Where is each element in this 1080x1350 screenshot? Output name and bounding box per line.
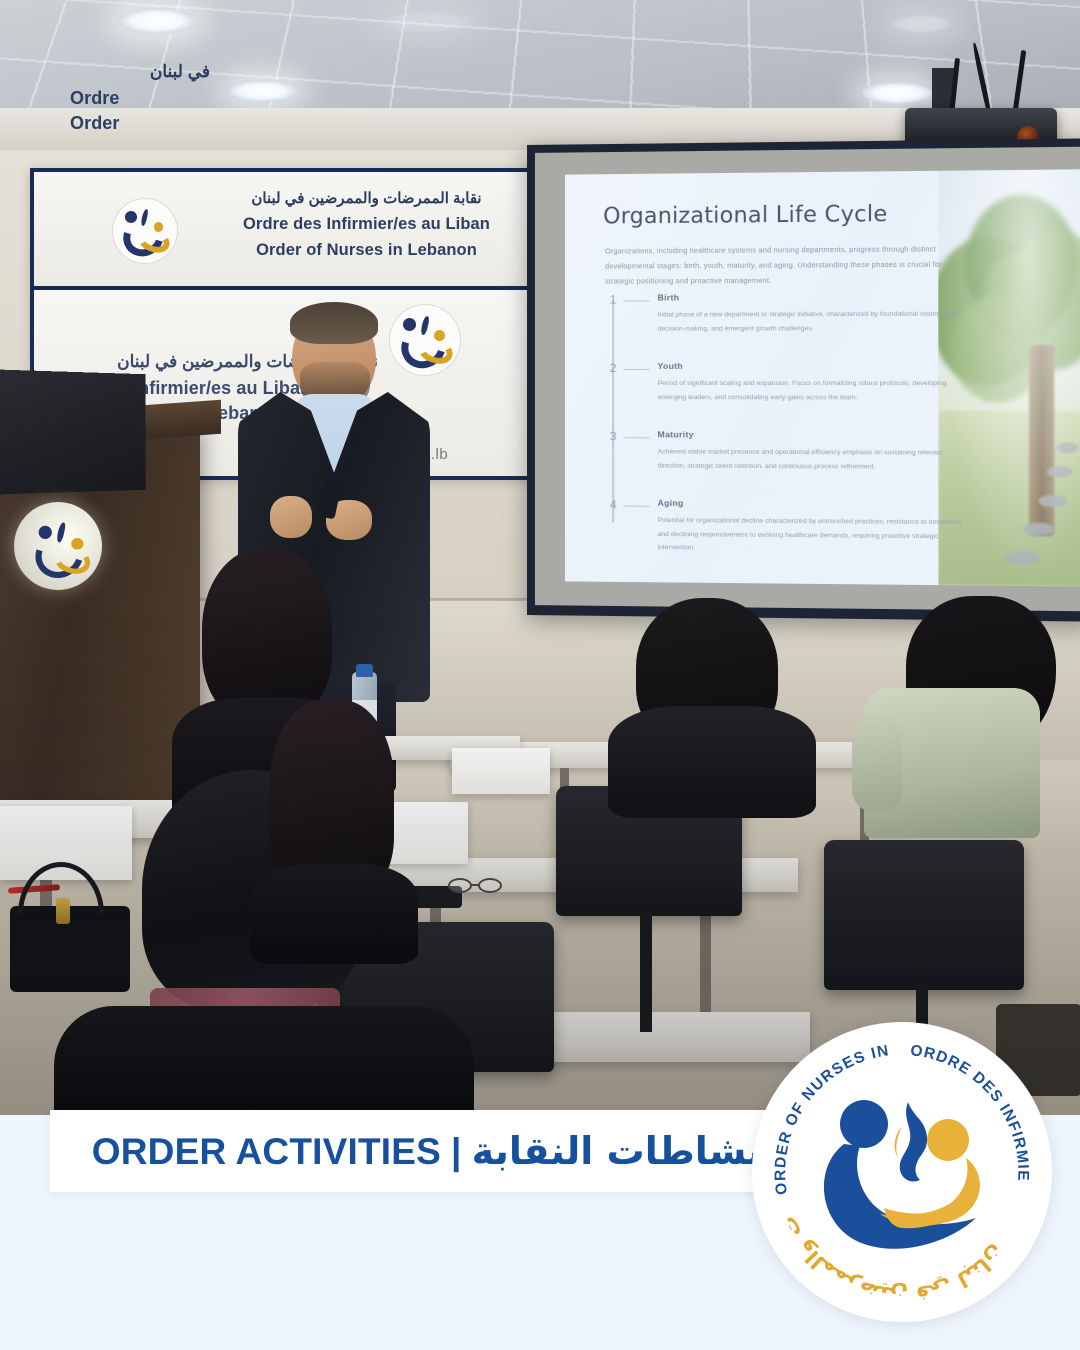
stage-title: Birth: [658, 292, 680, 302]
slide-stage-3: 3 Maturity Achieved stable market presen…: [605, 429, 974, 430]
chair-post: [640, 912, 652, 1032]
banner-english-fragment: Order: [70, 113, 120, 135]
stage-title: Aging: [658, 498, 684, 508]
caption-separator: |: [441, 1131, 472, 1172]
stage-number: 1: [605, 293, 621, 307]
event-photo: نقابة الممرضات والممرضين في لبنان Ordre …: [0, 0, 1080, 1115]
slide-stage-1: 1 Birth Initial phase of a new departmen…: [605, 291, 974, 293]
banner-english-title: Order of Nurses in Lebanon: [194, 240, 539, 260]
stage-title: Maturity: [658, 429, 694, 439]
attendee-shoulders: [54, 1006, 474, 1115]
handbag-buckle: [56, 898, 70, 924]
caption-text: ORDER ACTIVITIES|نشاطات النقابة: [92, 1129, 762, 1173]
screenshot-root: نقابة الممرضات والممرضين في لبنان Ordre …: [0, 0, 1080, 1350]
slide-timeline-connector: [612, 300, 614, 523]
ceiling-light-2: [228, 80, 298, 102]
name-tent-card: [452, 748, 550, 794]
presenter-left-hand: [270, 496, 312, 538]
stage-body: Initial phase of a new department or str…: [658, 307, 966, 335]
banner-logo-mark: [112, 198, 178, 264]
stage-number: 4: [605, 497, 621, 511]
slide-title: Organizational Life Cycle: [603, 202, 887, 230]
attendee-back-right: [856, 596, 1076, 836]
presentation-slide: Organizational Life Cycle Organizations,…: [565, 169, 1080, 586]
stage-body: Achieved stable market presence and oper…: [658, 445, 966, 474]
presenter-hair: [290, 302, 378, 344]
projection-screen: Organizational Life Cycle Organizations,…: [527, 138, 1080, 621]
stage-body: Potential for organizational decline cha…: [658, 514, 966, 558]
attendee-back-left: [598, 598, 828, 808]
stage-body: Period of significant scaling and expans…: [658, 377, 966, 405]
wall-banner-top: نقابة الممرضات والممرضين في لبنان Ordre …: [30, 168, 545, 290]
attendee-arm: [852, 716, 902, 812]
organization-seal-logo: ORDER OF NURSES IN LEBANON ORDRE DES INF…: [752, 1022, 1052, 1322]
attendee-foreground-right: [250, 700, 430, 960]
ceiling-light-4: [890, 14, 952, 34]
banner-arabic-fragment: في لبنان: [60, 62, 210, 83]
attendee-top: [250, 864, 418, 964]
banner-french-fragment: Ordre: [70, 88, 120, 110]
eyeglasses-bridge: [471, 884, 480, 886]
screen-surround: Organizational Life Cycle Organizations,…: [535, 147, 1080, 612]
stage-number: 2: [605, 361, 621, 375]
slide-intro-paragraph: Organizations, including healthcare syst…: [605, 242, 963, 289]
eyeglasses: [448, 878, 472, 893]
ceiling-light-1: [118, 8, 196, 34]
podium-emblem: [14, 502, 102, 590]
chair: [824, 840, 1024, 990]
stage-number: 3: [605, 429, 621, 443]
attendee-jacket: [608, 706, 816, 818]
caption-arabic: نشاطات النقابة: [472, 1129, 762, 1173]
eyeglasses: [478, 878, 502, 893]
ceiling-light-3: [862, 82, 932, 104]
ceiling-vent: [378, 10, 478, 34]
seal-svg: ORDER OF NURSES IN LEBANON ORDRE DES INF…: [752, 1022, 1052, 1322]
stage-title: Youth: [658, 361, 684, 371]
banner-arabic-title: نقابة الممرضات والممرضين في لبنان: [194, 190, 539, 208]
laptop: [0, 370, 146, 495]
slide-stage-4: 4 Aging Potential for organizational dec…: [605, 497, 974, 499]
banner-french-title: Ordre des Infirmier/es au Liban: [194, 214, 539, 234]
caption-bar: ORDER ACTIVITIES|نشاطات النقابة: [50, 1110, 790, 1192]
caption-english: ORDER ACTIVITIES: [92, 1131, 441, 1172]
